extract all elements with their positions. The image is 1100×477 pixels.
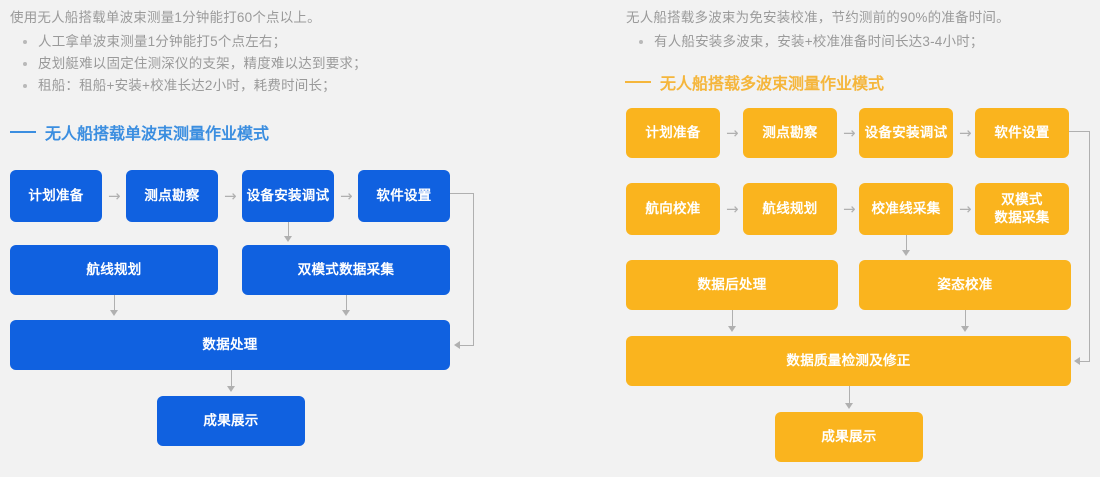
page-root: 使用无人船搭载单波束测量1分钟能打60个点以上。 人工拿单波束测量1分钟能打5个…	[0, 0, 1100, 477]
flow-node-dual-mode-acquisition-line2: 数据采集	[994, 209, 1049, 227]
arrow-right-icon: →	[726, 202, 739, 217]
arrow-right-icon: →	[843, 202, 856, 217]
flow-node-data-post-processing[interactable]: 数据后处理	[626, 260, 838, 310]
flow-node-software-config[interactable]: 软件设置	[975, 108, 1069, 158]
arrow-right-icon: →	[959, 202, 972, 217]
flow-node-heading-calibration[interactable]: 航向校准	[626, 183, 720, 235]
flow-node-data-quality-check[interactable]: 数据质量检测及修正	[626, 336, 1071, 386]
right-flowchart: 计划准备 → 测点勘察 → 设备安装调试 → 软件设置 航向校准 → 航线规划 …	[0, 0, 1100, 477]
flow-node-attitude-calibration[interactable]: 姿态校准	[859, 260, 1071, 310]
connector-line	[849, 386, 850, 404]
arrow-down-icon	[728, 326, 736, 332]
arrow-left-icon	[1074, 357, 1080, 365]
arrow-down-icon	[845, 403, 853, 409]
connector-line	[965, 310, 966, 327]
flow-node-site-survey[interactable]: 测点勘察	[743, 108, 837, 158]
connector-line	[1080, 361, 1090, 362]
connector-line	[732, 310, 733, 327]
arrow-down-icon	[902, 250, 910, 256]
arrow-down-icon	[961, 326, 969, 332]
arrow-right-icon: →	[843, 126, 856, 141]
flow-node-route-planning[interactable]: 航线规划	[743, 183, 837, 235]
flow-node-equipment-setup[interactable]: 设备安装调试	[859, 108, 953, 158]
arrow-right-icon: →	[959, 126, 972, 141]
flow-node-calibration-line-acquisition[interactable]: 校准线采集	[859, 183, 953, 235]
connector-line	[906, 235, 907, 250]
flow-node-dual-mode-acquisition-line1: 双模式	[1001, 191, 1042, 209]
connector-line	[1069, 131, 1090, 132]
flow-node-results-display[interactable]: 成果展示	[775, 412, 923, 462]
flow-node-dual-mode-acquisition[interactable]: 双模式 数据采集	[975, 183, 1069, 235]
flow-node-plan-prep[interactable]: 计划准备	[626, 108, 720, 158]
arrow-right-icon: →	[726, 126, 739, 141]
connector-line	[1089, 131, 1090, 361]
